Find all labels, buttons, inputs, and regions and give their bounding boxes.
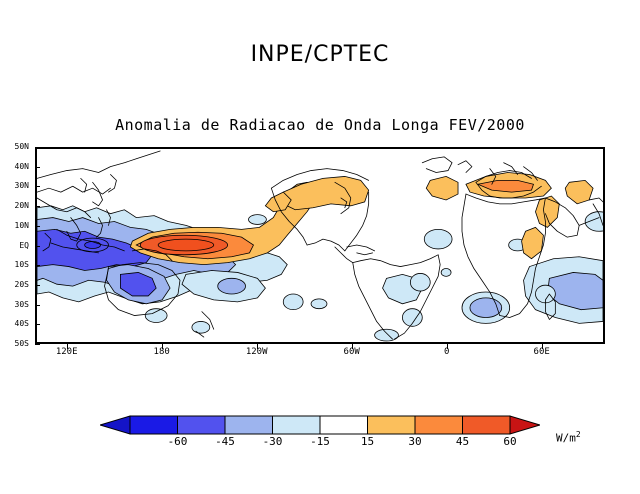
y-axis-tick bbox=[35, 265, 40, 266]
x-axis-tick bbox=[257, 344, 258, 349]
y-axis-tick-label: 10N bbox=[15, 222, 29, 230]
units-exponent: 2 bbox=[576, 430, 581, 439]
colorbar-swatch bbox=[130, 416, 178, 434]
colorbar: -60-45-30-1515304560 bbox=[100, 414, 540, 454]
y-axis-tick-label: 50N bbox=[15, 143, 29, 151]
map-contour-svg bbox=[37, 149, 603, 342]
x-axis-tick-label: 60W bbox=[344, 348, 360, 357]
y-axis-tick-label: EQ bbox=[19, 242, 29, 250]
colorbar-tick-label: -60 bbox=[168, 436, 188, 447]
olr-anomaly-figure: INPE/CPTEC Anomalia de Radiacao de Onda … bbox=[0, 0, 640, 494]
y-axis-tick-label: 30S bbox=[15, 301, 29, 309]
y-axis-tick bbox=[35, 305, 40, 306]
y-axis-tick bbox=[35, 147, 40, 148]
x-axis-tick-label: 120W bbox=[246, 348, 268, 357]
page-title: INPE/CPTEC bbox=[0, 42, 640, 67]
units-base: W/m bbox=[556, 432, 576, 445]
colorbar-swatches bbox=[100, 414, 540, 436]
colorbar-tick-label: 15 bbox=[361, 436, 374, 447]
y-axis-tick-label: 30N bbox=[15, 182, 29, 190]
chart-subtitle: Anomalia de Radiacao de Onda Longa FEV/2… bbox=[0, 116, 640, 134]
x-axis-labels: 120E180120W60W060E bbox=[0, 348, 640, 362]
y-axis-tick bbox=[35, 285, 40, 286]
y-axis-tick-label: 10S bbox=[15, 261, 29, 269]
y-axis-tick bbox=[35, 186, 40, 187]
y-axis-tick bbox=[35, 324, 40, 325]
x-axis-tick-label: 120E bbox=[56, 348, 78, 357]
x-axis-tick-label: 0 bbox=[444, 348, 449, 357]
colorbar-tick-label: -30 bbox=[263, 436, 283, 447]
y-axis-tick bbox=[35, 167, 40, 168]
y-axis-tick-label: 40S bbox=[15, 320, 29, 328]
colorbar-swatch bbox=[273, 416, 321, 434]
colorbar-swatch bbox=[225, 416, 273, 434]
x-axis-tick-label: 60E bbox=[534, 348, 550, 357]
x-axis-tick bbox=[67, 344, 68, 349]
x-axis-tick-label: 180 bbox=[154, 348, 170, 357]
colorbar-swatch bbox=[368, 416, 416, 434]
y-axis-labels: 50N40N30N20N10NEQ10S20S30S40S50S bbox=[0, 147, 33, 344]
colorbar-tick-label: 60 bbox=[503, 436, 516, 447]
colorbar-swatch bbox=[320, 416, 368, 434]
y-axis-tick bbox=[35, 206, 40, 207]
y-axis-tick-label: 20N bbox=[15, 202, 29, 210]
colorbar-tick-labels: -60-45-30-1515304560 bbox=[100, 436, 540, 452]
y-axis-tick bbox=[35, 246, 40, 247]
y-axis-tick bbox=[35, 226, 40, 227]
colorbar-swatch bbox=[415, 416, 463, 434]
colorbar-arrow-right bbox=[510, 416, 540, 434]
x-axis-tick bbox=[542, 344, 543, 349]
y-axis-tick-label: 40N bbox=[15, 163, 29, 171]
colorbar-swatch bbox=[463, 416, 511, 434]
colorbar-tick-label: 45 bbox=[456, 436, 469, 447]
colorbar-units: W/m2 bbox=[556, 430, 581, 445]
colorbar-tick-label: -15 bbox=[310, 436, 330, 447]
colorbar-swatch bbox=[178, 416, 226, 434]
y-axis-tick-label: 50S bbox=[15, 340, 29, 348]
map-plot-area bbox=[35, 147, 605, 344]
x-axis-tick bbox=[352, 344, 353, 349]
y-axis-tick bbox=[35, 344, 40, 345]
y-axis-tick-label: 20S bbox=[15, 281, 29, 289]
x-axis-tick bbox=[447, 344, 448, 349]
colorbar-tick-label: -45 bbox=[215, 436, 235, 447]
colorbar-tick-label: 30 bbox=[408, 436, 421, 447]
x-axis-tick bbox=[162, 344, 163, 349]
colorbar-arrow-left bbox=[100, 416, 130, 434]
